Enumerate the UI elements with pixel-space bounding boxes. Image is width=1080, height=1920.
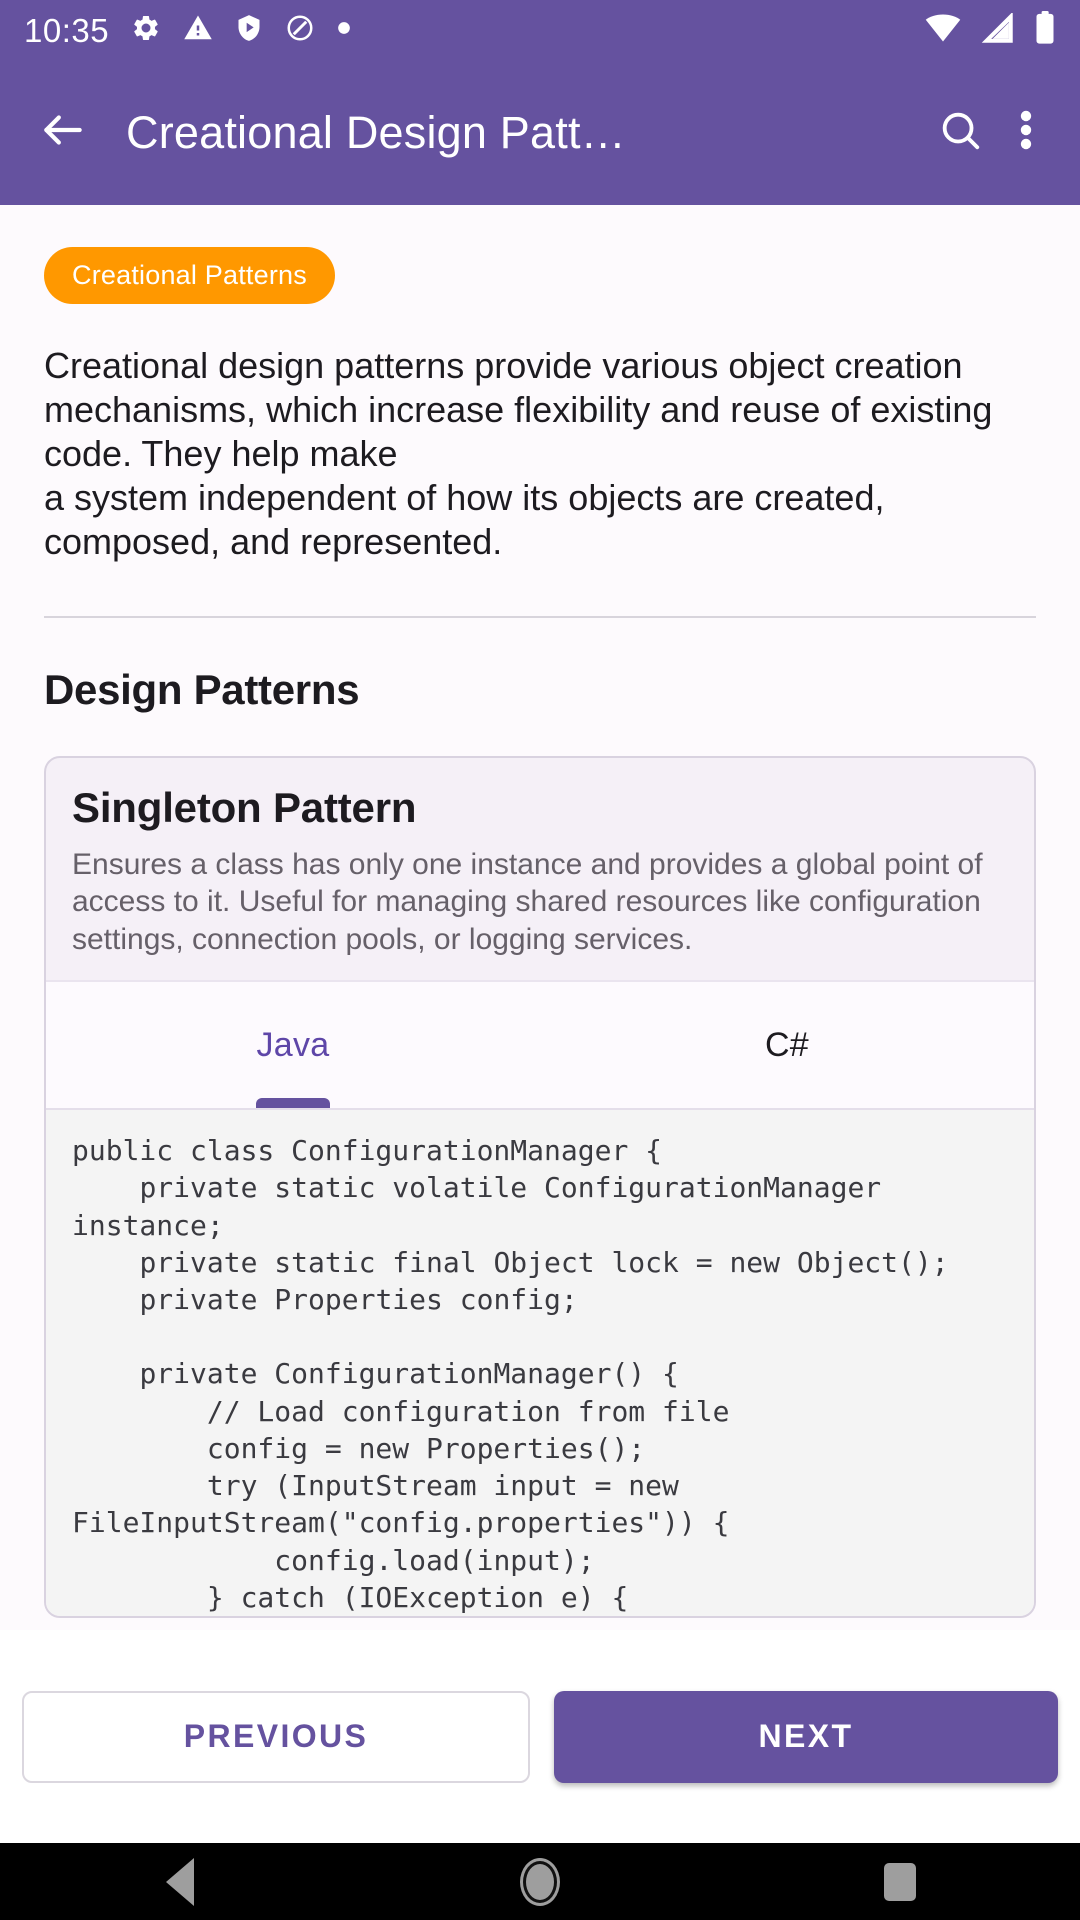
pattern-card: Singleton Pattern Ensures a class has on…: [44, 756, 1036, 1619]
navigation-button-bar: PREVIOUS NEXT: [0, 1630, 1080, 1843]
code-block[interactable]: public class ConfigurationManager { priv…: [46, 1108, 1034, 1616]
phone-screen: 10:35: [0, 0, 1080, 1920]
search-icon: [937, 107, 983, 158]
overflow-menu-button[interactable]: [998, 95, 1054, 171]
warning-triangle-icon: [183, 13, 213, 48]
section-heading: Design Patterns: [44, 666, 1036, 714]
tab-indicator-slot-csharp: [540, 1098, 1034, 1108]
tab-java[interactable]: Java: [46, 982, 540, 1108]
dot-icon: [337, 21, 351, 40]
shield-play-icon: [235, 13, 263, 48]
status-bar: 10:35: [0, 0, 1080, 60]
arrow-back-icon: [38, 105, 88, 160]
circle-slash-icon: [285, 13, 315, 48]
battery-icon: [1034, 11, 1056, 50]
nav-back-button[interactable]: [120, 1843, 240, 1920]
tab-indicator-slot-java: [46, 1098, 540, 1108]
intro-paragraph: Creational design patterns provide vario…: [44, 344, 1036, 564]
cellular-signal-icon: [980, 13, 1016, 48]
pattern-title: Singleton Pattern: [72, 784, 1008, 832]
tab-csharp[interactable]: C#: [540, 982, 1034, 1108]
nav-home-button[interactable]: [480, 1843, 600, 1920]
back-button[interactable]: [26, 96, 100, 170]
pattern-card-header: Singleton Pattern Ensures a class has on…: [46, 758, 1034, 981]
page-title: Creational Design Patt…: [126, 107, 922, 159]
pattern-description: Ensures a class has only one instance an…: [72, 846, 1008, 959]
nav-recents-square-icon: [884, 1863, 916, 1901]
app-bar: Creational Design Patt…: [0, 60, 1080, 205]
gear-icon: [131, 13, 161, 48]
more-vertical-icon: [1020, 106, 1032, 159]
category-badge: Creational Patterns: [44, 247, 335, 304]
nav-home-circle-icon: [523, 1861, 557, 1903]
content-scroll-area[interactable]: Creational Patterns Creational design pa…: [0, 205, 1080, 1630]
nav-back-triangle-icon: [166, 1858, 194, 1906]
content-inner: Creational Patterns Creational design pa…: [0, 205, 1080, 1618]
tab-indicator-bar: [256, 1098, 330, 1108]
android-nav-bar: [0, 1843, 1080, 1920]
tab-indicator: [46, 1098, 1034, 1108]
status-bar-left: 10:35: [24, 13, 924, 48]
status-bar-clock: 10:35: [24, 14, 109, 47]
previous-button[interactable]: PREVIOUS: [22, 1691, 530, 1783]
next-button[interactable]: NEXT: [554, 1691, 1058, 1783]
language-tabs: Java C#: [46, 980, 1034, 1108]
nav-recents-button[interactable]: [840, 1843, 960, 1920]
section-divider: [44, 616, 1036, 618]
wifi-icon: [924, 13, 962, 48]
status-bar-right: [924, 11, 1056, 50]
search-button[interactable]: [922, 95, 998, 171]
